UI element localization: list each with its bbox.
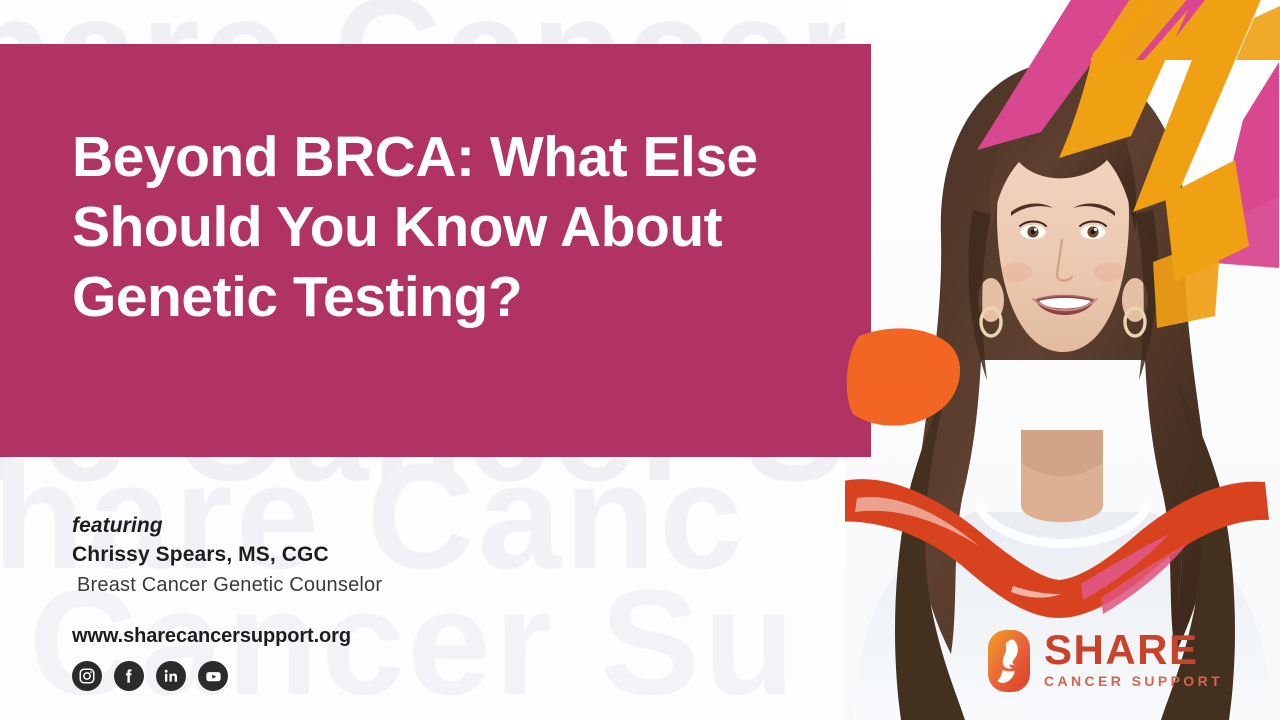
- share-logo-mark-icon: [988, 630, 1030, 692]
- share-logo-text: SHARE CANCER SUPPORT: [1044, 630, 1223, 692]
- logo-tagline: CANCER SUPPORT: [1044, 670, 1223, 692]
- featuring-label: featuring: [72, 512, 382, 540]
- facebook-icon[interactable]: [114, 661, 144, 691]
- website-url[interactable]: www.sharecancersupport.org: [72, 625, 382, 648]
- video-title-card: hare Cancer Su Share Cancer Cancer Suppo…: [0, 0, 1280, 720]
- instagram-icon[interactable]: [72, 661, 102, 691]
- title-banner: Beyond BRCA: What Else Should You Know A…: [0, 44, 880, 457]
- speaker-role: Breast Cancer Genetic Counselor: [72, 570, 382, 600]
- social-links: [72, 661, 382, 691]
- speaker-name: Chrissy Spears, MS, CGC: [72, 540, 382, 570]
- share-logo: SHARE CANCER SUPPORT: [988, 630, 1223, 692]
- linkedin-icon[interactable]: [156, 661, 186, 691]
- youtube-icon[interactable]: [198, 661, 228, 691]
- page-title: Beyond BRCA: What Else Should You Know A…: [72, 122, 872, 332]
- logo-wordmark: SHARE: [1044, 630, 1223, 670]
- speaker-portrait: [845, 0, 1280, 720]
- credits-block: featuring Chrissy Spears, MS, CGC Breast…: [72, 512, 382, 691]
- portrait-illustration: [845, 0, 1280, 720]
